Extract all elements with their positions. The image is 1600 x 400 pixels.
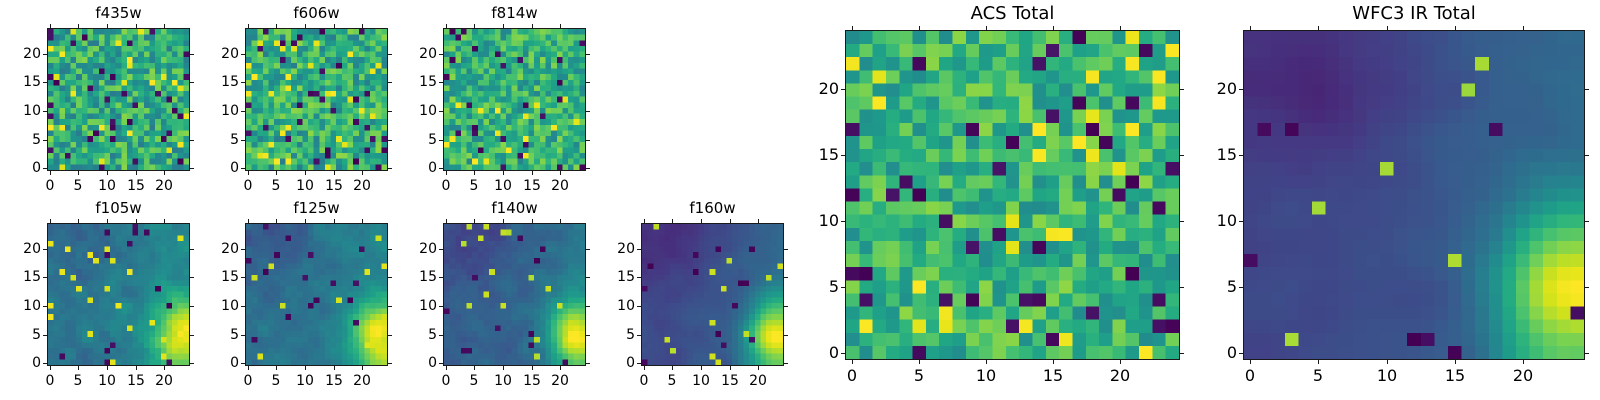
- y-tick-right-f105w-20: [190, 249, 194, 250]
- y-tick-right-f160w-0: [784, 363, 788, 364]
- y-tick-f140w-20: [439, 249, 443, 250]
- y-tick-label-f160w-20: 20: [591, 242, 635, 256]
- y-tick-f814w-15: [439, 82, 443, 83]
- y-tick-f435w-5: [43, 140, 47, 141]
- x-tick-f140w-15: [532, 366, 533, 370]
- x-tick-acs-total-0: [852, 360, 853, 364]
- x-tick-f160w-10: [701, 366, 702, 370]
- y-tick-right-acs-total-0: [1180, 353, 1184, 354]
- y-tick-right-wfc3-ir-total-15: [1585, 155, 1589, 156]
- x-tick-top-f435w-20: [164, 24, 165, 28]
- y-tick-right-f140w-20: [586, 249, 590, 250]
- y-tick-f125w-20: [241, 249, 245, 250]
- x-tick-top-f814w-0: [446, 24, 447, 28]
- y-tick-f435w-0: [43, 168, 47, 169]
- x-tick-acs-total-5: [919, 360, 920, 364]
- y-tick-right-acs-total-20: [1180, 89, 1184, 90]
- x-tick-top-f435w-0: [50, 24, 51, 28]
- y-tick-label-wfc3-ir-total-20: 20: [1193, 81, 1237, 97]
- y-tick-f105w-0: [43, 363, 47, 364]
- panel-f140w: f140w0510152005101520: [0, 0, 1600, 400]
- x-tick-f125w-5: [276, 366, 277, 370]
- heatmap-f105w: [47, 223, 190, 366]
- y-tick-f105w-15: [43, 277, 47, 278]
- x-tick-label-f606w-5: 5: [272, 179, 281, 193]
- x-tick-f435w-0: [50, 171, 51, 175]
- panel-wfc3-ir-total: WFC3 IR Total0510152005101520: [0, 0, 1600, 400]
- y-tick-f814w-5: [439, 140, 443, 141]
- x-tick-top-f140w-10: [503, 219, 504, 223]
- x-tick-f814w-15: [532, 171, 533, 175]
- y-tick-right-f814w-10: [586, 111, 590, 112]
- y-tick-label-f606w-5: 5: [195, 133, 239, 147]
- x-tick-f105w-5: [78, 366, 79, 370]
- x-tick-label-wfc3-ir-total-5: 5: [1313, 368, 1323, 384]
- y-tick-label-f140w-0: 0: [393, 356, 437, 370]
- y-tick-label-f140w-10: 10: [393, 299, 437, 313]
- y-tick-label-f125w-20: 20: [195, 242, 239, 256]
- x-tick-top-f435w-5: [78, 24, 79, 28]
- y-tick-label-acs-total-10: 10: [795, 213, 839, 229]
- x-tick-top-acs-total-10: [986, 26, 987, 30]
- y-tick-label-f814w-20: 20: [393, 47, 437, 61]
- x-tick-top-f606w-0: [248, 24, 249, 28]
- y-tick-label-f160w-5: 5: [591, 328, 635, 342]
- y-tick-right-f606w-15: [388, 82, 392, 83]
- x-tick-top-f125w-5: [276, 219, 277, 223]
- y-tick-right-f140w-10: [586, 306, 590, 307]
- x-tick-label-acs-total-5: 5: [914, 368, 924, 384]
- x-tick-top-wfc3-ir-total-15: [1455, 26, 1456, 30]
- y-tick-right-f435w-15: [190, 82, 194, 83]
- y-tick-label-wfc3-ir-total-0: 0: [1193, 345, 1237, 361]
- x-tick-top-f160w-15: [730, 219, 731, 223]
- x-tick-f160w-5: [672, 366, 673, 370]
- panel-title-f814w: f814w: [443, 6, 586, 21]
- x-tick-acs-total-20: [1120, 360, 1121, 364]
- x-tick-top-wfc3-ir-total-0: [1250, 26, 1251, 30]
- x-tick-top-f125w-10: [305, 219, 306, 223]
- panel-title-f125w: f125w: [245, 201, 388, 216]
- y-tick-right-f160w-10: [784, 306, 788, 307]
- x-tick-top-f814w-20: [560, 24, 561, 28]
- y-tick-right-f606w-20: [388, 54, 392, 55]
- panel-f125w: f125w0510152005101520: [0, 0, 1600, 400]
- x-tick-acs-total-15: [1053, 360, 1054, 364]
- x-tick-top-f435w-10: [107, 24, 108, 28]
- x-tick-f814w-0: [446, 171, 447, 175]
- y-tick-acs-total-10: [841, 221, 845, 222]
- y-tick-label-f435w-5: 5: [0, 133, 41, 147]
- x-tick-top-f140w-5: [474, 219, 475, 223]
- x-tick-label-f125w-15: 15: [325, 374, 343, 388]
- y-tick-right-f125w-10: [388, 306, 392, 307]
- y-tick-f160w-5: [637, 335, 641, 336]
- y-tick-right-f814w-0: [586, 168, 590, 169]
- y-tick-label-acs-total-5: 5: [795, 279, 839, 295]
- x-tick-label-wfc3-ir-total-20: 20: [1513, 368, 1533, 384]
- x-tick-label-wfc3-ir-total-15: 15: [1445, 368, 1465, 384]
- x-tick-label-acs-total-15: 15: [1043, 368, 1063, 384]
- y-tick-label-wfc3-ir-total-15: 15: [1193, 147, 1237, 163]
- y-tick-f125w-5: [241, 335, 245, 336]
- y-tick-label-f814w-5: 5: [393, 133, 437, 147]
- x-tick-top-wfc3-ir-total-5: [1318, 26, 1319, 30]
- x-tick-label-f125w-20: 20: [353, 374, 371, 388]
- y-tick-f435w-15: [43, 82, 47, 83]
- x-tick-top-f435w-15: [136, 24, 137, 28]
- y-tick-label-f105w-20: 20: [0, 242, 41, 256]
- x-tick-label-f814w-0: 0: [442, 179, 451, 193]
- y-tick-f160w-10: [637, 306, 641, 307]
- x-tick-label-wfc3-ir-total-10: 10: [1377, 368, 1397, 384]
- x-tick-f105w-0: [50, 366, 51, 370]
- y-tick-right-f125w-20: [388, 249, 392, 250]
- heatmap-f435w: [47, 28, 190, 171]
- x-tick-f105w-20: [164, 366, 165, 370]
- x-tick-top-f160w-5: [672, 219, 673, 223]
- x-tick-f140w-0: [446, 366, 447, 370]
- y-tick-label-f606w-10: 10: [195, 104, 239, 118]
- heatmap-f125w: [245, 223, 388, 366]
- x-tick-top-f105w-10: [107, 219, 108, 223]
- panel-f814w: f814w0510152005101520: [0, 0, 1600, 400]
- x-tick-label-f140w-5: 5: [470, 374, 479, 388]
- y-tick-f160w-15: [637, 277, 641, 278]
- heatmap-pixels-wfc3-ir-total: [1244, 31, 1584, 359]
- x-tick-label-f814w-15: 15: [523, 179, 541, 193]
- y-tick-right-f606w-10: [388, 111, 392, 112]
- x-tick-label-f160w-15: 15: [721, 374, 739, 388]
- x-tick-top-f105w-0: [50, 219, 51, 223]
- x-tick-top-f105w-20: [164, 219, 165, 223]
- y-tick-label-f435w-10: 10: [0, 104, 41, 118]
- x-tick-label-acs-total-20: 20: [1110, 368, 1130, 384]
- x-tick-label-f105w-10: 10: [98, 374, 116, 388]
- x-tick-f435w-20: [164, 171, 165, 175]
- y-tick-f606w-15: [241, 82, 245, 83]
- y-tick-right-f814w-5: [586, 140, 590, 141]
- y-tick-label-f125w-15: 15: [195, 270, 239, 284]
- y-tick-right-f435w-0: [190, 168, 194, 169]
- x-tick-top-acs-total-20: [1120, 26, 1121, 30]
- x-tick-f435w-5: [78, 171, 79, 175]
- x-tick-f160w-0: [644, 366, 645, 370]
- heatmap-pixels-f125w: [246, 224, 387, 365]
- y-tick-label-f140w-15: 15: [393, 270, 437, 284]
- y-tick-f814w-0: [439, 168, 443, 169]
- y-tick-f814w-10: [439, 111, 443, 112]
- y-tick-wfc3-ir-total-15: [1239, 155, 1243, 156]
- heatmap-f160w: [641, 223, 784, 366]
- y-tick-label-f606w-20: 20: [195, 47, 239, 61]
- y-tick-label-f435w-20: 20: [0, 47, 41, 61]
- x-tick-f125w-15: [334, 366, 335, 370]
- x-tick-label-f435w-10: 10: [98, 179, 116, 193]
- y-tick-f105w-5: [43, 335, 47, 336]
- x-tick-top-f160w-10: [701, 219, 702, 223]
- y-tick-f125w-10: [241, 306, 245, 307]
- panel-title-f160w: f160w: [641, 201, 784, 216]
- x-tick-label-f105w-20: 20: [155, 374, 173, 388]
- x-tick-f140w-5: [474, 366, 475, 370]
- x-tick-top-f814w-10: [503, 24, 504, 28]
- x-tick-wfc3-ir-total-20: [1523, 360, 1524, 364]
- panel-f105w: f105w0510152005101520: [0, 0, 1600, 400]
- x-tick-label-f606w-10: 10: [296, 179, 314, 193]
- y-tick-wfc3-ir-total-10: [1239, 221, 1243, 222]
- heatmap-f140w: [443, 223, 586, 366]
- x-tick-f435w-15: [136, 171, 137, 175]
- y-tick-f606w-20: [241, 54, 245, 55]
- panel-f160w: f160w0510152005101520: [0, 0, 1600, 400]
- y-tick-label-f160w-10: 10: [591, 299, 635, 313]
- x-tick-f606w-5: [276, 171, 277, 175]
- x-tick-wfc3-ir-total-5: [1318, 360, 1319, 364]
- x-tick-top-f606w-10: [305, 24, 306, 28]
- y-tick-wfc3-ir-total-5: [1239, 287, 1243, 288]
- y-tick-f125w-15: [241, 277, 245, 278]
- x-tick-top-f814w-5: [474, 24, 475, 28]
- y-tick-right-wfc3-ir-total-0: [1585, 353, 1589, 354]
- x-tick-top-wfc3-ir-total-10: [1387, 26, 1388, 30]
- y-tick-label-f140w-20: 20: [393, 242, 437, 256]
- y-tick-label-acs-total-0: 0: [795, 345, 839, 361]
- y-tick-label-f814w-0: 0: [393, 161, 437, 175]
- panel-title-f105w: f105w: [47, 201, 190, 216]
- x-tick-label-f160w-20: 20: [749, 374, 767, 388]
- x-tick-label-f435w-5: 5: [74, 179, 83, 193]
- panel-acs-total: ACS Total0510152005101520: [0, 0, 1600, 400]
- x-tick-f606w-10: [305, 171, 306, 175]
- x-tick-wfc3-ir-total-15: [1455, 360, 1456, 364]
- x-tick-f125w-20: [362, 366, 363, 370]
- y-tick-label-f814w-15: 15: [393, 75, 437, 89]
- x-tick-f814w-10: [503, 171, 504, 175]
- y-tick-wfc3-ir-total-0: [1239, 353, 1243, 354]
- heatmap-pixels-f160w: [642, 224, 783, 365]
- y-tick-label-acs-total-20: 20: [795, 81, 839, 97]
- x-tick-label-f105w-5: 5: [74, 374, 83, 388]
- y-tick-label-wfc3-ir-total-10: 10: [1193, 213, 1237, 229]
- y-tick-label-f160w-15: 15: [591, 270, 635, 284]
- y-tick-right-f160w-20: [784, 249, 788, 250]
- x-tick-top-acs-total-5: [919, 26, 920, 30]
- panel-title-wfc3-ir-total: WFC3 IR Total: [1243, 5, 1585, 23]
- x-tick-label-f606w-20: 20: [353, 179, 371, 193]
- x-tick-label-acs-total-10: 10: [976, 368, 996, 384]
- x-tick-label-f435w-0: 0: [46, 179, 55, 193]
- y-tick-f606w-5: [241, 140, 245, 141]
- x-tick-top-f140w-20: [560, 219, 561, 223]
- y-tick-right-f435w-5: [190, 140, 194, 141]
- y-tick-right-f140w-0: [586, 363, 590, 364]
- y-tick-label-f105w-5: 5: [0, 328, 41, 342]
- y-tick-label-f140w-5: 5: [393, 328, 437, 342]
- y-tick-right-f160w-5: [784, 335, 788, 336]
- x-tick-top-f105w-15: [136, 219, 137, 223]
- y-tick-f814w-20: [439, 54, 443, 55]
- panel-title-f606w: f606w: [245, 6, 388, 21]
- y-tick-right-f606w-5: [388, 140, 392, 141]
- x-tick-top-f814w-15: [532, 24, 533, 28]
- x-tick-acs-total-10: [986, 360, 987, 364]
- y-tick-f160w-20: [637, 249, 641, 250]
- y-tick-label-f160w-0: 0: [591, 356, 635, 370]
- y-tick-f140w-5: [439, 335, 443, 336]
- x-tick-label-f125w-0: 0: [244, 374, 253, 388]
- y-tick-right-f160w-15: [784, 277, 788, 278]
- y-tick-label-f814w-10: 10: [393, 104, 437, 118]
- x-tick-label-wfc3-ir-total-0: 0: [1245, 368, 1255, 384]
- y-tick-right-f435w-10: [190, 111, 194, 112]
- x-tick-wfc3-ir-total-10: [1387, 360, 1388, 364]
- x-tick-top-f606w-5: [276, 24, 277, 28]
- x-tick-label-f105w-0: 0: [46, 374, 55, 388]
- y-tick-f105w-10: [43, 306, 47, 307]
- x-tick-top-f105w-5: [78, 219, 79, 223]
- x-tick-label-f140w-20: 20: [551, 374, 569, 388]
- y-tick-label-acs-total-15: 15: [795, 147, 839, 163]
- x-tick-top-f140w-15: [532, 219, 533, 223]
- y-tick-right-f125w-0: [388, 363, 392, 364]
- y-tick-right-acs-total-10: [1180, 221, 1184, 222]
- x-tick-label-f160w-0: 0: [640, 374, 649, 388]
- x-tick-label-f606w-15: 15: [325, 179, 343, 193]
- y-tick-label-f125w-10: 10: [195, 299, 239, 313]
- heatmap-pixels-f814w: [444, 29, 585, 170]
- x-tick-label-f160w-5: 5: [668, 374, 677, 388]
- x-tick-top-f125w-15: [334, 219, 335, 223]
- x-tick-f435w-10: [107, 171, 108, 175]
- x-tick-label-f140w-10: 10: [494, 374, 512, 388]
- y-tick-label-f435w-0: 0: [0, 161, 41, 175]
- heatmap-acs-total: [845, 30, 1180, 360]
- y-tick-label-f125w-0: 0: [195, 356, 239, 370]
- y-tick-right-f814w-15: [586, 82, 590, 83]
- heatmap-f606w: [245, 28, 388, 171]
- y-tick-label-f105w-10: 10: [0, 299, 41, 313]
- y-tick-right-acs-total-15: [1180, 155, 1184, 156]
- y-tick-right-f125w-5: [388, 335, 392, 336]
- x-tick-label-f435w-15: 15: [127, 179, 145, 193]
- y-tick-acs-total-0: [841, 353, 845, 354]
- x-tick-f606w-0: [248, 171, 249, 175]
- y-tick-label-f606w-0: 0: [195, 161, 239, 175]
- y-tick-acs-total-15: [841, 155, 845, 156]
- y-tick-f435w-10: [43, 111, 47, 112]
- x-tick-label-f105w-15: 15: [127, 374, 145, 388]
- x-tick-label-f814w-20: 20: [551, 179, 569, 193]
- y-tick-right-wfc3-ir-total-5: [1585, 287, 1589, 288]
- x-tick-top-f606w-20: [362, 24, 363, 28]
- x-tick-f125w-10: [305, 366, 306, 370]
- panel-title-acs-total: ACS Total: [845, 5, 1180, 23]
- x-tick-label-f435w-20: 20: [155, 179, 173, 193]
- y-tick-right-f140w-15: [586, 277, 590, 278]
- y-tick-acs-total-20: [841, 89, 845, 90]
- y-tick-label-f606w-15: 15: [195, 75, 239, 89]
- x-tick-top-f606w-15: [334, 24, 335, 28]
- panel-f435w: f435w0510152005101520: [0, 0, 1600, 400]
- x-tick-top-acs-total-0: [852, 26, 853, 30]
- y-tick-label-f105w-0: 0: [0, 356, 41, 370]
- y-tick-f140w-15: [439, 277, 443, 278]
- panel-f606w: f606w0510152005101520: [0, 0, 1600, 400]
- x-tick-f140w-20: [560, 366, 561, 370]
- x-tick-f140w-10: [503, 366, 504, 370]
- x-tick-f606w-20: [362, 171, 363, 175]
- heatmap-f814w: [443, 28, 586, 171]
- x-tick-f160w-15: [730, 366, 731, 370]
- x-tick-f814w-20: [560, 171, 561, 175]
- x-tick-f814w-5: [474, 171, 475, 175]
- x-tick-top-f125w-20: [362, 219, 363, 223]
- x-tick-label-f814w-5: 5: [470, 179, 479, 193]
- y-tick-acs-total-5: [841, 287, 845, 288]
- y-tick-f140w-10: [439, 306, 443, 307]
- x-tick-label-f160w-10: 10: [692, 374, 710, 388]
- y-tick-f140w-0: [439, 363, 443, 364]
- heatmap-pixels-f606w: [246, 29, 387, 170]
- y-tick-right-f105w-0: [190, 363, 194, 364]
- x-tick-label-f125w-5: 5: [272, 374, 281, 388]
- y-tick-f160w-0: [637, 363, 641, 364]
- heatmap-pixels-f435w: [48, 29, 189, 170]
- y-tick-right-acs-total-5: [1180, 287, 1184, 288]
- y-tick-right-f105w-10: [190, 306, 194, 307]
- y-tick-right-f814w-20: [586, 54, 590, 55]
- heatmap-pixels-f105w: [48, 224, 189, 365]
- x-tick-f105w-15: [136, 366, 137, 370]
- heatmap-pixels-f140w: [444, 224, 585, 365]
- y-tick-f606w-0: [241, 168, 245, 169]
- y-tick-right-wfc3-ir-total-10: [1585, 221, 1589, 222]
- y-tick-right-f435w-20: [190, 54, 194, 55]
- x-tick-top-f125w-0: [248, 219, 249, 223]
- y-tick-f105w-20: [43, 249, 47, 250]
- y-tick-right-f606w-0: [388, 168, 392, 169]
- x-tick-top-f160w-20: [758, 219, 759, 223]
- y-tick-label-f125w-5: 5: [195, 328, 239, 342]
- x-tick-f606w-15: [334, 171, 335, 175]
- x-tick-wfc3-ir-total-0: [1250, 360, 1251, 364]
- y-tick-right-f125w-15: [388, 277, 392, 278]
- heatmap-pixels-acs-total: [846, 31, 1179, 359]
- panel-title-f435w: f435w: [47, 6, 190, 21]
- heatmap-wfc3-ir-total: [1243, 30, 1585, 360]
- x-tick-label-f140w-0: 0: [442, 374, 451, 388]
- y-tick-label-wfc3-ir-total-5: 5: [1193, 279, 1237, 295]
- y-tick-right-f105w-5: [190, 335, 194, 336]
- x-tick-f125w-0: [248, 366, 249, 370]
- y-tick-f435w-20: [43, 54, 47, 55]
- x-tick-label-f140w-15: 15: [523, 374, 541, 388]
- panel-title-f140w: f140w: [443, 201, 586, 216]
- y-tick-label-f105w-15: 15: [0, 270, 41, 284]
- y-tick-right-f105w-15: [190, 277, 194, 278]
- x-tick-label-acs-total-0: 0: [847, 368, 857, 384]
- x-tick-top-f140w-0: [446, 219, 447, 223]
- x-tick-f160w-20: [758, 366, 759, 370]
- y-tick-f606w-10: [241, 111, 245, 112]
- y-tick-label-f435w-15: 15: [0, 75, 41, 89]
- x-tick-label-f125w-10: 10: [296, 374, 314, 388]
- x-tick-top-f160w-0: [644, 219, 645, 223]
- y-tick-wfc3-ir-total-20: [1239, 89, 1243, 90]
- x-tick-top-acs-total-15: [1053, 26, 1054, 30]
- x-tick-label-f606w-0: 0: [244, 179, 253, 193]
